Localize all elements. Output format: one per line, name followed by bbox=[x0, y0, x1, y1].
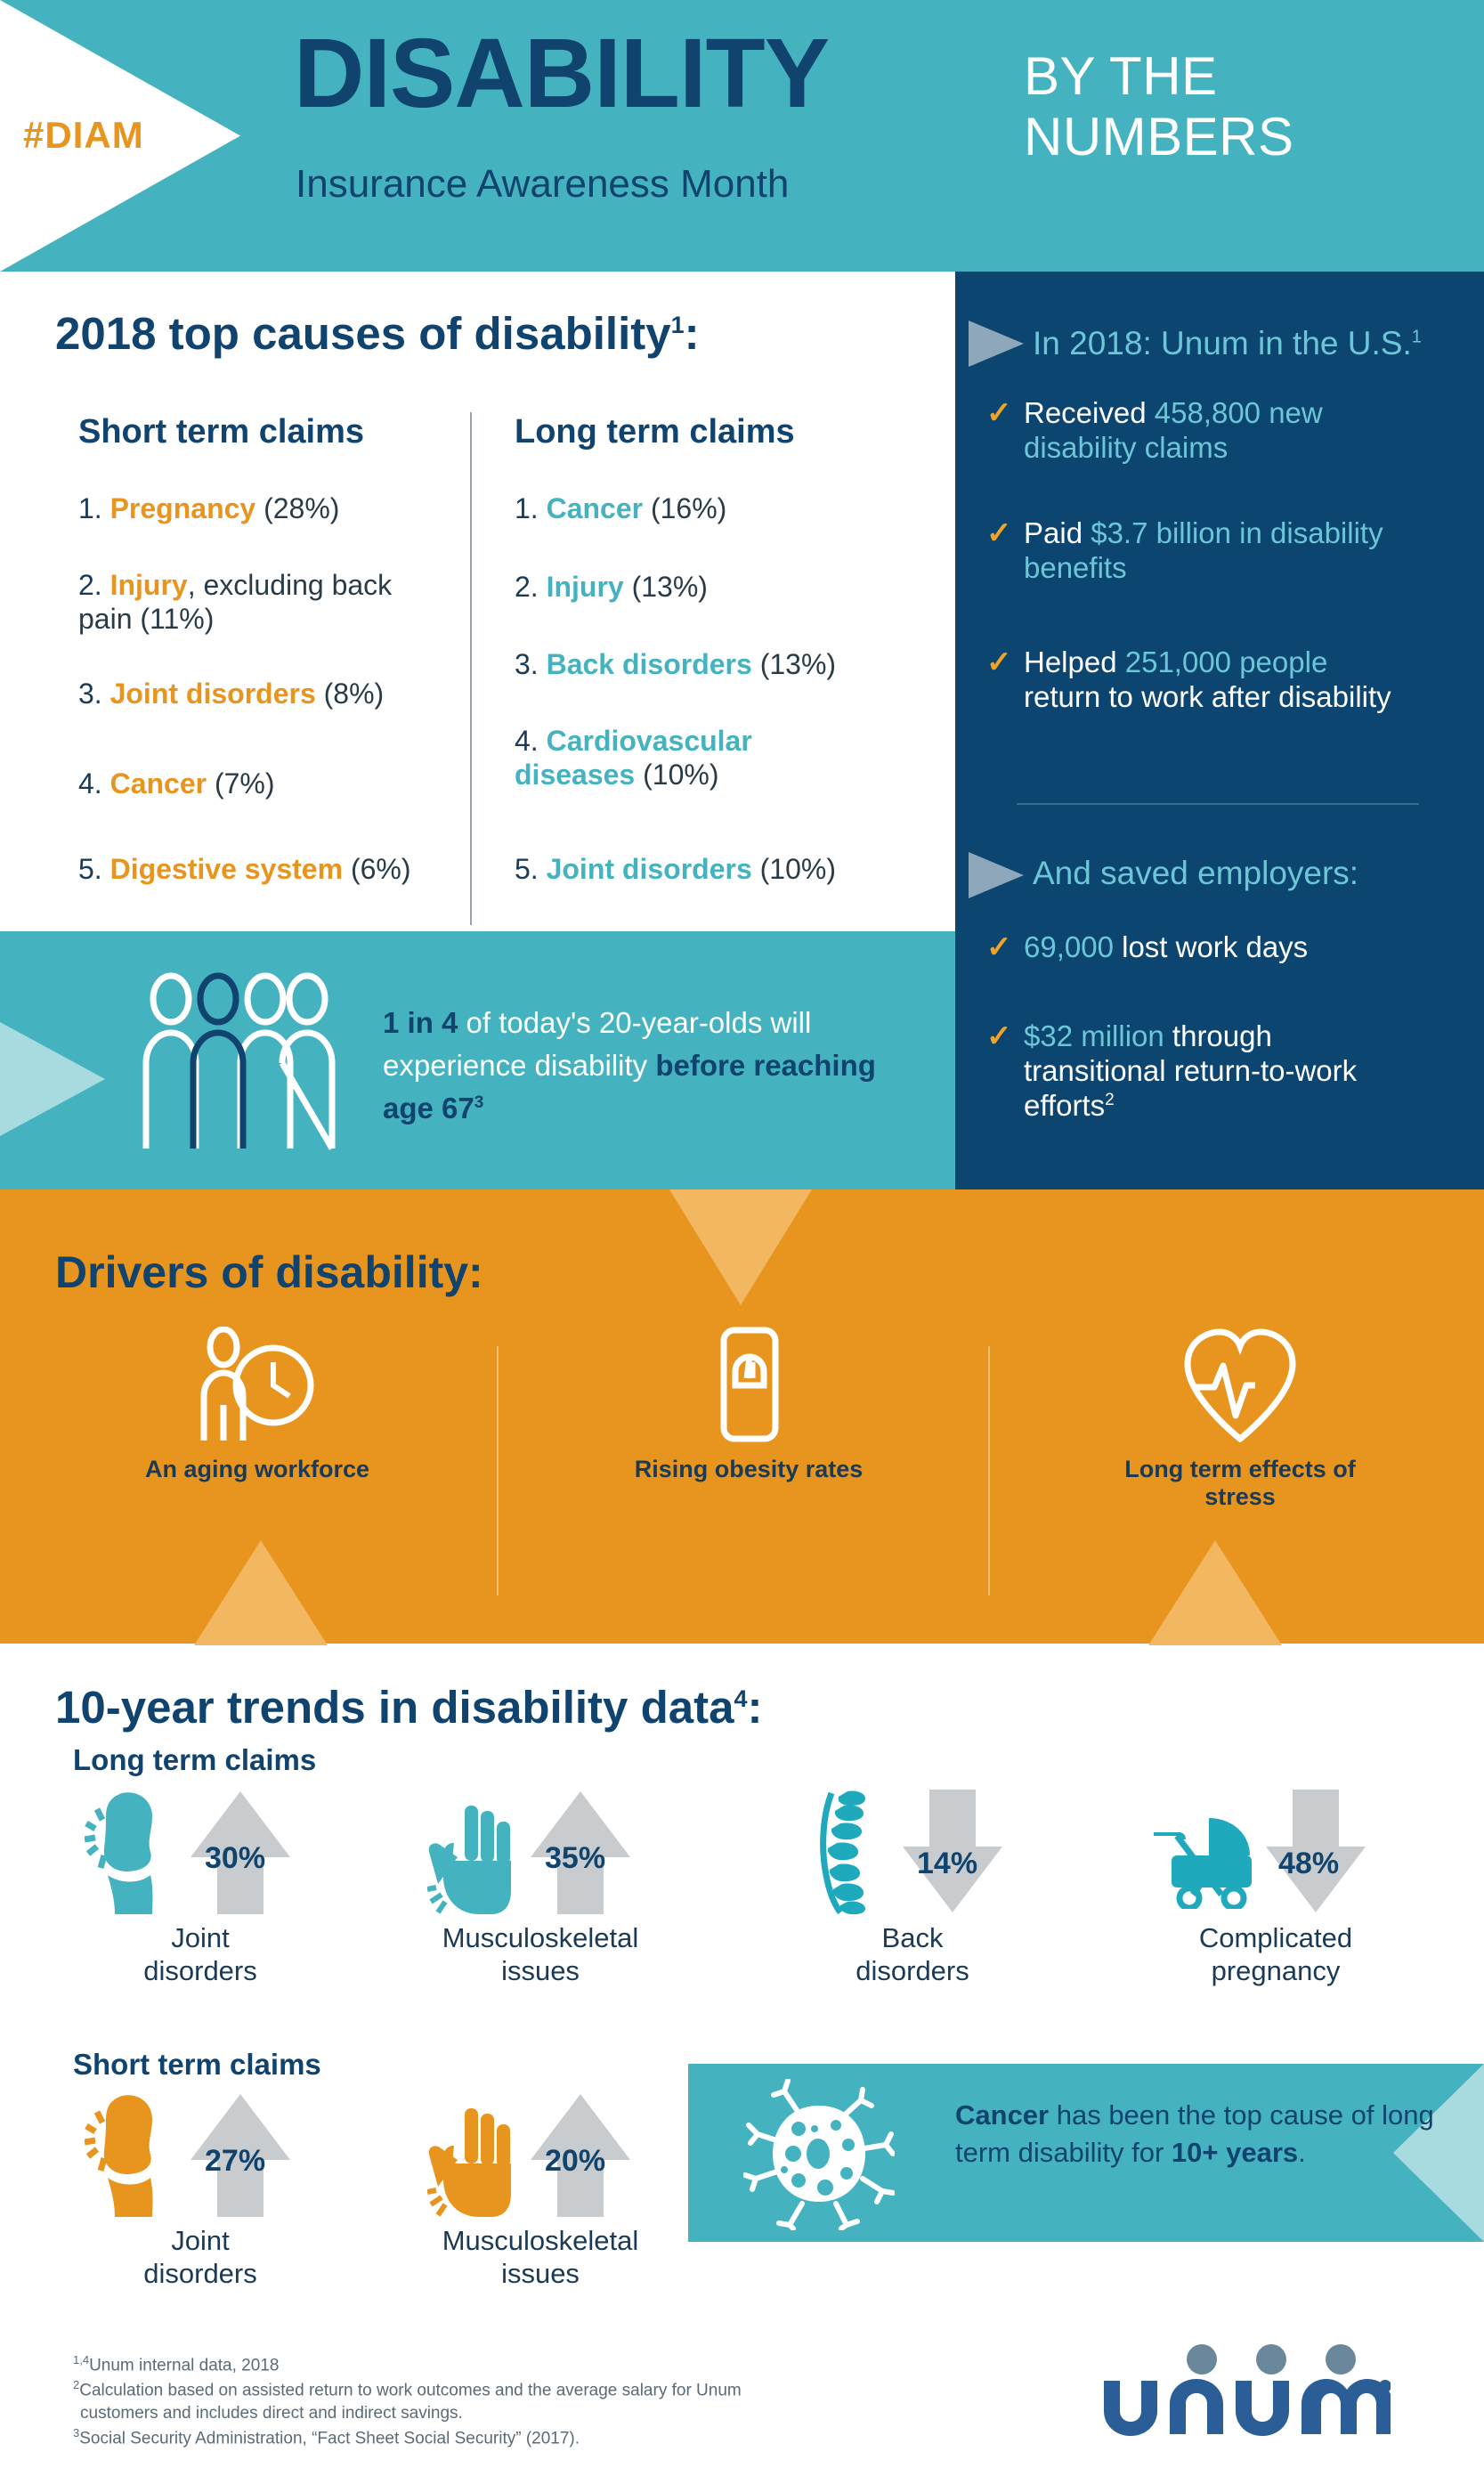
cancer-cell-icon bbox=[743, 2079, 895, 2230]
list-item: 4. Cancer (7%) bbox=[78, 767, 275, 800]
list-item: 1. Pregnancy (28%) bbox=[78, 491, 339, 525]
stat-highlight: 69,000 bbox=[1024, 930, 1114, 963]
header-right-line2: NUMBERS bbox=[1024, 107, 1294, 166]
list-item: 1. Cancer (16%) bbox=[515, 491, 726, 525]
trend-label-line1: Complicated bbox=[1199, 1922, 1352, 1953]
item-number: 4. bbox=[515, 725, 539, 757]
driver-item: Rising obesity rates bbox=[602, 1327, 896, 1483]
item-pct: (16%) bbox=[651, 492, 726, 524]
stat-text: Helped 251,000 people return to work aft… bbox=[1024, 645, 1405, 715]
causes-section-title: 2018 top causes of disability1: bbox=[55, 307, 700, 360]
page-subtitle: Insurance Awareness Month bbox=[296, 165, 789, 204]
checkmark-icon: ✓ bbox=[986, 402, 1013, 428]
item-name: Joint disorders bbox=[547, 853, 752, 885]
item-name: Pregnancy bbox=[110, 492, 256, 524]
knee-joint-icon bbox=[85, 1790, 182, 1914]
drivers-title: Drivers of disability: bbox=[55, 1246, 483, 1298]
aging-workforce-icon bbox=[195, 1327, 320, 1442]
item-pct: (10%) bbox=[760, 853, 836, 885]
item-number: 2. bbox=[78, 569, 102, 601]
item-number: 1. bbox=[78, 492, 102, 524]
unum-panel-heading-text: In 2018: Unum in the U.S. bbox=[1033, 325, 1412, 361]
item-number: 1. bbox=[515, 492, 539, 524]
trend-item: 27% Joint disorders bbox=[53, 2092, 347, 2290]
checkmark-icon: ✓ bbox=[986, 1025, 1013, 1051]
list-item: ✓ 69,000 lost work days bbox=[986, 930, 1414, 965]
item-number: 5. bbox=[515, 853, 539, 885]
item-name: Injury bbox=[110, 569, 188, 601]
item-name: Back disorders bbox=[547, 648, 752, 680]
short-term-claims-heading: Short term claims bbox=[78, 413, 364, 451]
trend-label-line2: disorders bbox=[143, 1955, 257, 1986]
footnote-ref: 3 bbox=[474, 1093, 484, 1112]
unum-heading-footnote-ref: 1 bbox=[1412, 328, 1422, 347]
checkmark-icon: ✓ bbox=[986, 651, 1013, 678]
stat-text: Paid $3.7 billion in disability benefits bbox=[1024, 516, 1431, 586]
page-title: DISABILITY bbox=[294, 25, 829, 123]
item-number: 4. bbox=[78, 767, 102, 800]
header-right-line1: BY THE bbox=[1024, 46, 1218, 106]
item-number: 2. bbox=[515, 571, 539, 603]
stat-text: Received 458,800 new disability claims bbox=[1024, 396, 1412, 466]
trend-item: 14% Back disorders bbox=[766, 1790, 1059, 1987]
trend-percentage: 27% bbox=[205, 2144, 265, 2179]
stat-tail: lost work days bbox=[1114, 930, 1308, 963]
item-number: 3. bbox=[78, 678, 102, 710]
trend-item: 20% Musculoskeletal issues bbox=[393, 2092, 687, 2290]
item-pct: (10%) bbox=[643, 759, 718, 791]
list-item: 4. Cardiovascular diseases (10%) bbox=[515, 724, 817, 792]
item-name: Injury bbox=[547, 571, 624, 603]
item-pct: (13%) bbox=[632, 571, 708, 603]
scale-icon bbox=[686, 1327, 811, 1442]
trend-percentage: 48% bbox=[1278, 1847, 1339, 1881]
long-term-trends-heading: Long term claims bbox=[73, 1743, 316, 1777]
checkmark-icon: ✓ bbox=[986, 522, 1013, 548]
cancer-end: . bbox=[1298, 2137, 1306, 2168]
driver-label: Long term effects of stress bbox=[1093, 1456, 1387, 1511]
item-name: Digestive system bbox=[110, 853, 343, 885]
list-item: 3. Back disorders (13%) bbox=[515, 647, 836, 681]
footnote-1: 1,4Unum internal data, 2018 bbox=[73, 2352, 750, 2377]
column-divider bbox=[470, 412, 472, 925]
footnote-3: 3Social Security Administration, “Fact S… bbox=[73, 2425, 750, 2450]
trend-label-line2: pregnancy bbox=[1212, 1955, 1341, 1986]
unum-logo bbox=[1097, 2343, 1391, 2441]
diam-hashtag: #DIAM bbox=[23, 114, 144, 157]
footnote-ref: 2 bbox=[1105, 1091, 1115, 1109]
trend-label-line2: issues bbox=[501, 2258, 580, 2289]
item-pct: (28%) bbox=[264, 492, 339, 524]
trend-label: Joint disorders bbox=[53, 2224, 347, 2290]
list-item: 2. Injury, excluding back pain (11%) bbox=[78, 568, 443, 637]
trend-item: 30% Joint disorders bbox=[53, 1790, 347, 1987]
hand-icon bbox=[427, 2105, 525, 2217]
list-item: ✓ Paid $3.7 billion in disability benefi… bbox=[986, 516, 1431, 586]
spine-icon bbox=[817, 1790, 888, 1914]
footnote-2: 2Calculation based on assisted return to… bbox=[73, 2377, 750, 2425]
stat-lead: Paid bbox=[1024, 516, 1083, 549]
trend-label: Musculoskeletal issues bbox=[393, 1921, 687, 1987]
heart-pulse-icon bbox=[1173, 1327, 1307, 1442]
cancer-years: 10+ years bbox=[1172, 2137, 1298, 2168]
trend-label-line2: disorders bbox=[143, 2258, 257, 2289]
saved-employers-heading: And saved employers: bbox=[1033, 855, 1358, 892]
cancer-lead: Cancer bbox=[955, 2099, 1049, 2131]
stat-lead: Helped bbox=[1024, 645, 1117, 678]
trend-item: 48% Complicated pregnancy bbox=[1129, 1790, 1423, 1987]
stat-highlight: 251,000 people bbox=[1117, 645, 1328, 678]
footnote-2-text: Calculation based on assisted return to … bbox=[79, 2381, 742, 2423]
item-pct: (6%) bbox=[351, 853, 411, 885]
footnote-1-ref: 1,4 bbox=[73, 2353, 89, 2366]
item-number: 3. bbox=[515, 648, 539, 680]
trends-footnote-ref: 4 bbox=[734, 1685, 747, 1712]
cancer-callout-text: Cancer has been the top cause of long te… bbox=[955, 2097, 1484, 2172]
item-name: Joint disorders bbox=[110, 678, 316, 710]
footnotes: 1,4Unum internal data, 2018 2Calculation… bbox=[73, 2352, 750, 2450]
driver-item: An aging workforce bbox=[110, 1327, 404, 1483]
driver-divider bbox=[988, 1346, 990, 1595]
list-item: ✓ Helped 251,000 people return to work a… bbox=[986, 645, 1405, 715]
stat-lead: Received bbox=[1024, 396, 1147, 429]
item-number: 5. bbox=[78, 853, 102, 885]
footnote-1-text: Unum internal data, 2018 bbox=[89, 2356, 279, 2375]
trend-label: Back disorders bbox=[766, 1921, 1059, 1987]
item-pct: (7%) bbox=[215, 767, 275, 800]
trend-label: Joint disorders bbox=[53, 1921, 347, 1987]
knee-joint-icon bbox=[85, 2092, 182, 2217]
hand-icon bbox=[427, 1802, 525, 1914]
stroller-icon bbox=[1152, 1809, 1268, 1909]
driver-item: Long term effects of stress bbox=[1093, 1327, 1387, 1511]
trend-percentage: 20% bbox=[545, 2144, 605, 2179]
list-item: 5. Digestive system (6%) bbox=[78, 852, 411, 886]
unum-panel-heading: In 2018: Unum in the U.S.1 bbox=[1033, 325, 1422, 362]
footnote-3-text: Social Security Administration, “Fact Sh… bbox=[79, 2429, 580, 2448]
list-item: 2. Injury (13%) bbox=[515, 570, 708, 604]
list-item: 5. Joint disorders (10%) bbox=[515, 852, 836, 886]
trend-label-line1: Musculoskeletal bbox=[442, 1922, 639, 1953]
stat-text: 69,000 lost work days bbox=[1024, 930, 1308, 965]
item-pct: (11%) bbox=[140, 603, 214, 635]
item-pct: (13%) bbox=[760, 648, 836, 680]
stat-highlight: $32 million bbox=[1024, 1019, 1164, 1052]
trend-percentage: 14% bbox=[917, 1847, 977, 1881]
item-name: Cancer bbox=[110, 767, 207, 800]
trend-label-line2: issues bbox=[501, 1955, 580, 1986]
panel-divider bbox=[1017, 803, 1419, 805]
item-name: Cancer bbox=[547, 492, 644, 524]
one-in-four-number: 1 in 4 bbox=[383, 1006, 458, 1039]
four-people-icon bbox=[134, 970, 338, 1162]
driver-divider bbox=[497, 1346, 499, 1595]
trend-label-line1: Musculoskeletal bbox=[442, 2225, 639, 2256]
stat-text: $32 million through transitional return-… bbox=[1024, 1019, 1405, 1124]
driver-label: Rising obesity rates bbox=[602, 1456, 896, 1483]
trends-title: 10-year trends in disability data4: bbox=[55, 1681, 762, 1733]
trend-percentage: 35% bbox=[545, 1841, 605, 1876]
list-item: ✓ Received 458,800 new disability claims bbox=[986, 396, 1412, 466]
trend-label: Musculoskeletal issues bbox=[393, 2224, 687, 2290]
checkmark-icon: ✓ bbox=[986, 936, 1013, 962]
stat-tail: return to work after disability bbox=[1024, 680, 1391, 713]
one-in-four-text: 1 in 4 of today's 20-year-olds will expe… bbox=[383, 1002, 917, 1130]
trend-label-line2: disorders bbox=[856, 1955, 969, 1986]
header-right-title: BY THE NUMBERS bbox=[1024, 46, 1294, 167]
list-item: 3. Joint disorders (8%) bbox=[78, 677, 384, 710]
causes-title-footnote-ref: 1 bbox=[671, 312, 685, 338]
list-item: ✓ $32 million through transitional retur… bbox=[986, 1019, 1405, 1124]
short-term-trends-heading: Short term claims bbox=[73, 2048, 321, 2082]
driver-label: An aging workforce bbox=[110, 1456, 404, 1483]
trend-label-line1: Joint bbox=[171, 2225, 229, 2256]
trend-label-line1: Back bbox=[882, 1922, 944, 1953]
trend-label: Complicated pregnancy bbox=[1129, 1921, 1423, 1987]
trend-percentage: 30% bbox=[205, 1841, 265, 1876]
causes-title-text: 2018 top causes of disability bbox=[55, 308, 671, 359]
trend-label-line1: Joint bbox=[171, 1922, 229, 1953]
trend-item: 35% Musculoskeletal issues bbox=[393, 1790, 687, 1987]
trends-title-text: 10-year trends in disability data bbox=[55, 1682, 734, 1733]
long-term-claims-heading: Long term claims bbox=[515, 413, 795, 451]
item-pct: (8%) bbox=[324, 678, 385, 710]
